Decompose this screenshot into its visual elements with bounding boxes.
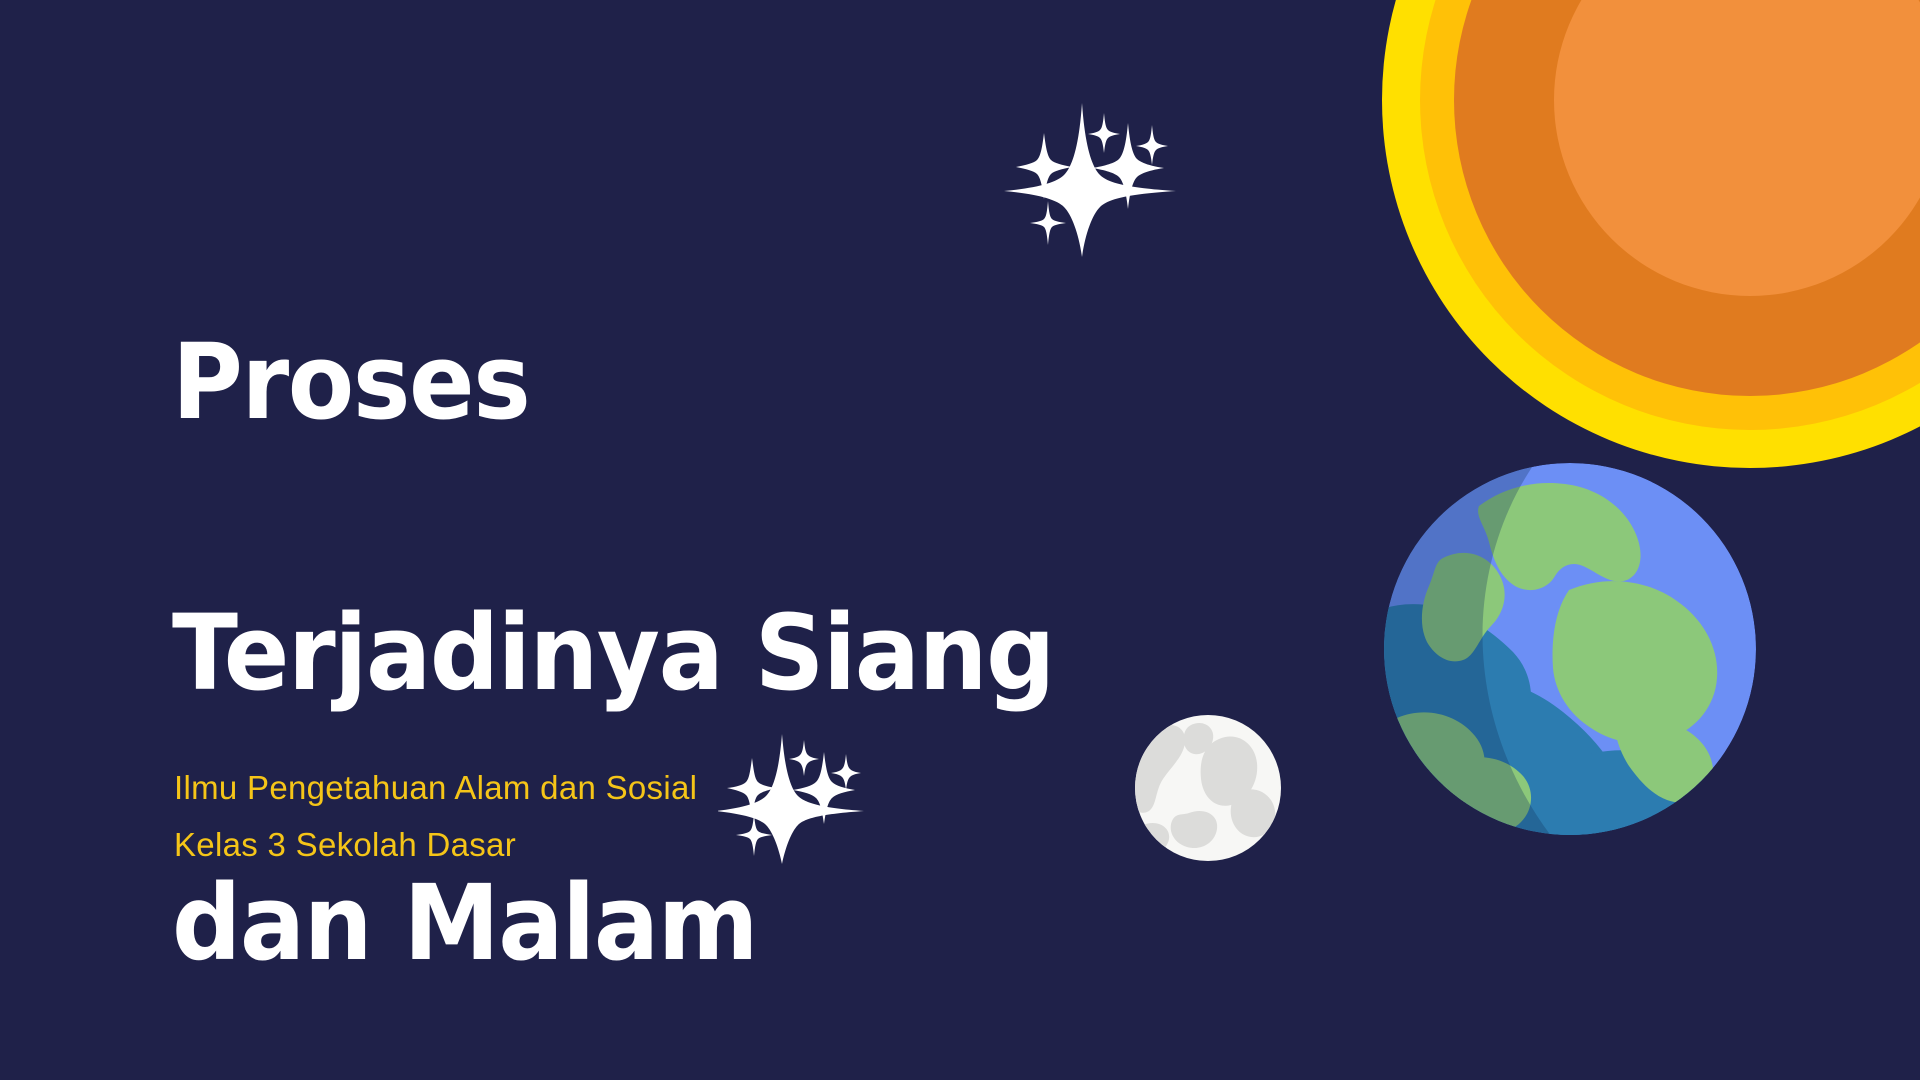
presentation-slide: Proses Terjadinya Siang dan Malam Ilmu P…	[0, 0, 1920, 1080]
sparkle-icon-tiny-right	[1136, 125, 1168, 165]
title-block: Proses Terjadinya Siang dan Malam	[172, 180, 1302, 1080]
sparkle-icon-tiny-top	[1088, 113, 1120, 153]
title-line-1: Proses	[172, 315, 1223, 450]
page-title: Proses Terjadinya Siang dan Malam	[172, 180, 1223, 1080]
subtitle-line-2: Kelas 3 Sekolah Dasar	[174, 817, 697, 874]
title-line-3: dan Malam	[172, 856, 1223, 991]
earth-illustration	[1383, 462, 1757, 836]
subtitle-block: Ilmu Pengetahuan Alam dan Sosial Kelas 3…	[174, 760, 697, 874]
title-line-2: Terjadinya Siang	[172, 586, 1223, 721]
subtitle-line-1: Ilmu Pengetahuan Alam dan Sosial	[174, 760, 697, 817]
